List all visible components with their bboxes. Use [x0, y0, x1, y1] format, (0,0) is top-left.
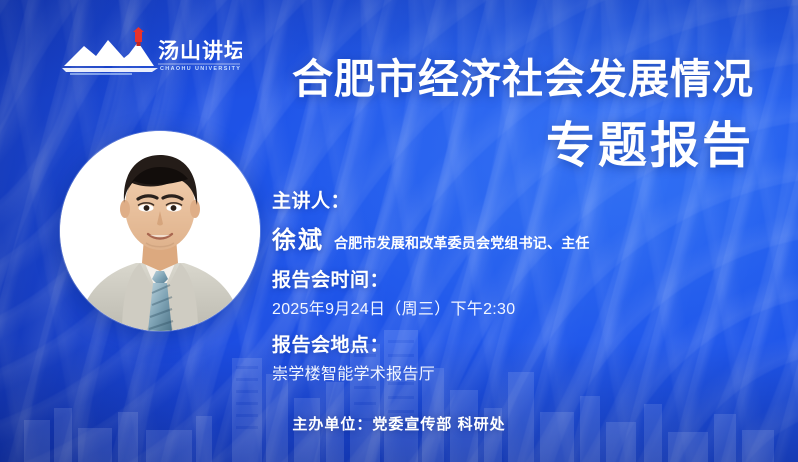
speaker-name: 徐斌 — [272, 220, 324, 255]
venue-value: 崇学楼智能学术报告厅 — [272, 365, 742, 386]
event-poster: 汤山讲坛 CHAOHU UNIVERSITY — [0, 0, 798, 462]
speaker-label: 主讲人： — [272, 190, 742, 214]
venue-label: 报告会地点： — [272, 334, 742, 358]
pagoda-marker-icon — [133, 27, 144, 46]
poster-headline: 合肥市经济社会发展情况 专题报告 — [214, 58, 754, 172]
speaker-block: 主讲人： 徐斌 合肥市发展和改革委员会党组书记、主任 — [272, 190, 742, 255]
time-label: 报告会时间： — [272, 269, 742, 293]
speaker-row: 徐斌 合肥市发展和改革委员会党组书记、主任 — [272, 220, 742, 255]
speaker-title: 合肥市发展和改革委员会党组书记、主任 — [334, 233, 590, 253]
headline-line-2: 专题报告 — [214, 121, 754, 172]
venue-block: 报告会地点： 崇学楼智能学术报告厅 — [272, 334, 742, 386]
headline-line-1: 合肥市经济社会发展情况 — [214, 58, 754, 101]
mountain-icon — [62, 40, 158, 74]
organizer-footer: 主办单位：党委宣传部 科研处 — [0, 413, 798, 434]
event-details: 主讲人： 徐斌 合肥市发展和改革委员会党组书记、主任 报告会时间： 2025年9… — [272, 190, 742, 386]
time-value: 2025年9月24日（周三）下午2:30 — [272, 300, 742, 321]
time-block: 报告会时间： 2025年9月24日（周三）下午2:30 — [272, 269, 742, 321]
